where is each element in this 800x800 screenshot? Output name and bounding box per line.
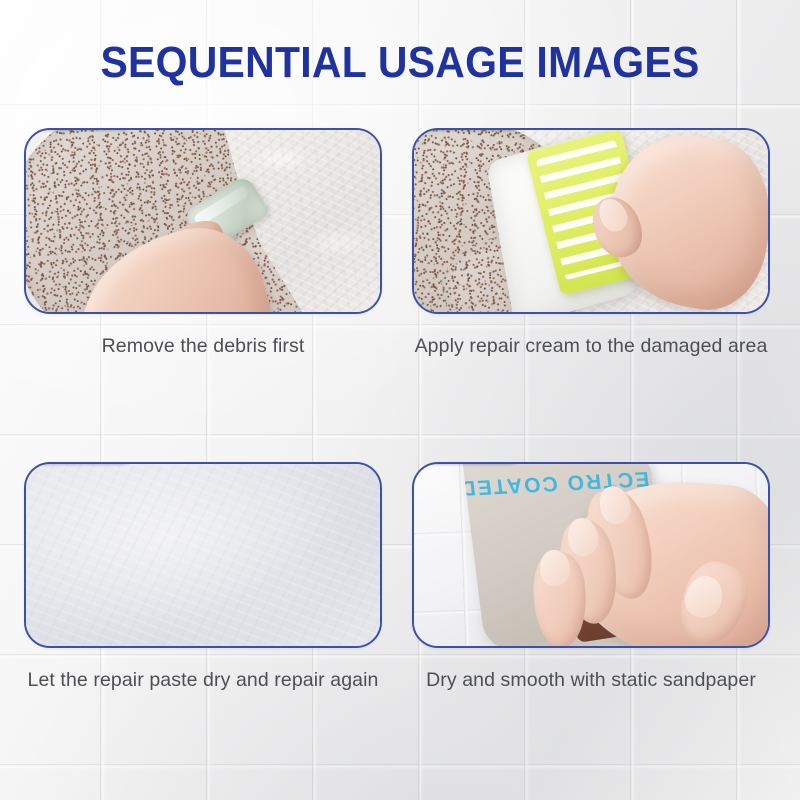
step-2-caption: Apply repair cream to the damaged area xyxy=(412,332,770,361)
step-4-photo: ELECTRO COATED ABRASIVE COATED ABRASIVE xyxy=(414,464,768,646)
step-4-image-frame: ELECTRO COATED ABRASIVE COATED ABRASIVE … xyxy=(412,462,770,648)
step-3-caption: Let the repair paste dry and repair agai… xyxy=(24,666,382,695)
step-2-image-frame: STEP 2 xyxy=(412,128,770,314)
tiled-wall-background: SEQUENTIAL USAGE IMAGES STEP 1 Remove th… xyxy=(0,0,800,800)
step-card-3: STEP 3 Let the repair paste dry and repa… xyxy=(24,462,382,695)
step-1-caption: Remove the debris first xyxy=(24,332,382,361)
step-card-4: ELECTRO COATED ABRASIVE COATED ABRASIVE … xyxy=(412,462,770,695)
steps-grid: STEP 1 Remove the debris first STEP 2 xyxy=(0,0,800,800)
step-card-2: STEP 2 Apply repair cream to the damaged… xyxy=(412,128,770,361)
step-3-photo xyxy=(26,464,380,646)
step-card-1: STEP 1 Remove the debris first xyxy=(24,128,382,361)
step-1-image-frame: STEP 1 xyxy=(24,128,382,314)
step-2-photo xyxy=(414,130,768,312)
step-1-photo xyxy=(26,130,380,312)
step-4-caption: Dry and smooth with static sandpaper xyxy=(412,666,770,695)
step-3-image-frame: STEP 3 xyxy=(24,462,382,648)
